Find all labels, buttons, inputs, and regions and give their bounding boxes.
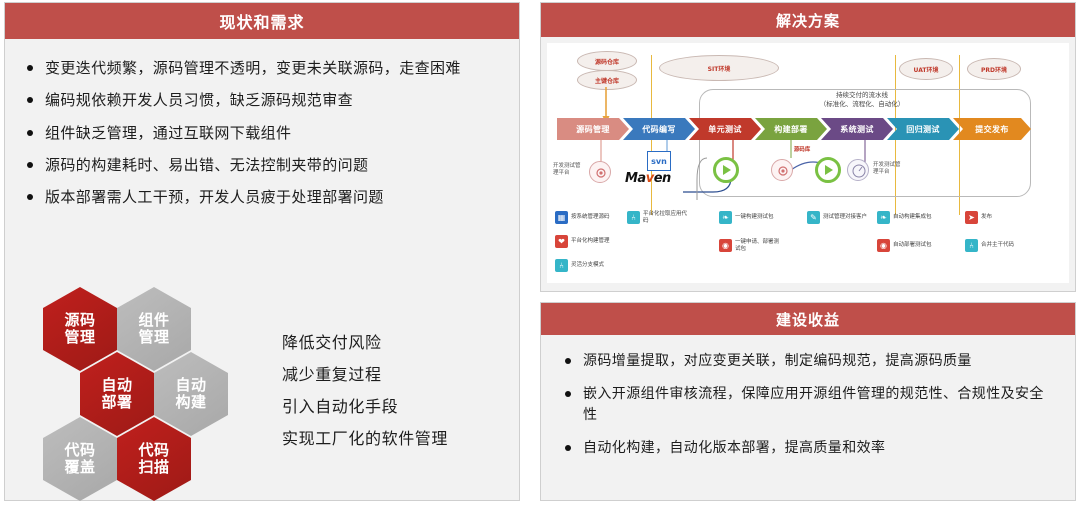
- current-status-bullet-list: 变更迭代频繁，源码管理不透明，变更未关联源码，走查困难 编码规依赖开发人员习惯，…: [5, 39, 519, 209]
- list-item: 嵌入开源组件审核流程，保障应用开源组件管理的规范性、合规性及安全性: [563, 384, 1053, 427]
- legend-label: 平台化拉取应用代码: [643, 211, 687, 225]
- legend-item-auto-deploy-test-pkg: ◉ 自动部署测试包: [877, 239, 932, 252]
- stage-source-management[interactable]: 源码管理: [557, 118, 629, 140]
- legend-item-auto-build-integration-pkg: ❧ 自动构建集成包: [877, 211, 932, 224]
- legend-label: 自动构建集成包: [893, 214, 932, 221]
- legend-item-release: ➤ 发布: [965, 211, 992, 224]
- gear-icon: [771, 159, 793, 181]
- maven-logo: Maven: [625, 171, 671, 186]
- label-source-repo-mid: 源码库: [785, 143, 819, 154]
- hex-label-line1: 代码: [138, 442, 169, 459]
- panel-current-status: 现状和需求 变更迭代频繁，源码管理不透明，变更未关联源码，走查困难 编码规依赖开…: [4, 2, 520, 501]
- hex-label-line1: 自动: [175, 377, 206, 394]
- panel-construction-gain: 建设收益 源码增量提取，对应变更关联，制定编码规范，提高源码质量 嵌入开源组件审…: [540, 302, 1076, 501]
- stage-system-test[interactable]: 系统测试: [821, 118, 893, 140]
- panel-solution-body: 源码仓库 主键仓库 SIT环境 UAT环境 PRD环境 持续交付的流水线 （标准…: [547, 43, 1069, 283]
- benefit-line: 实现工厂化的软件管理: [282, 423, 448, 455]
- target-icon: ◉: [877, 239, 890, 252]
- legend-item-flexible-branch-mode: ⑃ 灵活分支模式: [555, 259, 604, 272]
- list-item: 自动化构建，自动化版本部署，提高质量和效率: [563, 438, 1053, 460]
- panel-construction-gain-title: 建设收益: [541, 303, 1075, 335]
- benefit-text-block: 降低交付风险 减少重复过程 引入自动化手段 实现工厂化的软件管理: [282, 327, 448, 455]
- benefit-line: 减少重复过程: [282, 359, 448, 391]
- stage-unit-test[interactable]: 单元测试: [689, 118, 761, 140]
- benefit-line: 引入自动化手段: [282, 391, 448, 423]
- panel-current-status-body: 变更迭代频繁，源码管理不透明，变更未关联源码，走查困难 编码规依赖开发人员习惯，…: [5, 39, 519, 209]
- hex-label-line1: 组件: [138, 312, 169, 329]
- hex-label-line2: 构建: [175, 394, 206, 411]
- legend-item-one-click-build-test-pkg: ❧ 一键构建测试包: [719, 211, 774, 224]
- legend-label: 灵活分支模式: [571, 262, 604, 269]
- list-item: 源码增量提取，对应变更关联，制定编码规范，提高源码质量: [563, 351, 1053, 373]
- legend-label: 一键申请、部署测试包: [735, 239, 779, 253]
- branch-icon: ⑃: [627, 211, 640, 224]
- edit-icon: ✎: [807, 211, 820, 224]
- svn-logo: svn: [647, 151, 671, 171]
- legend-label: 平台化构建管理: [571, 238, 610, 245]
- panel-solution-title: 解决方案: [541, 3, 1075, 37]
- capability-hexagon-cluster: 源码 管理 组件 管理 自动 部署 自动 构建 代码 覆盖: [25, 279, 265, 529]
- ellipse-source-repo: 源码仓库: [577, 51, 637, 71]
- panel-current-status-title: 现状和需求: [5, 3, 519, 39]
- legend-label: 测试管理对接客户: [823, 214, 867, 221]
- benefit-line: 降低交付风险: [282, 327, 448, 359]
- pipeline-caption-line1: 持续交付的流水线: [727, 91, 997, 100]
- grid-icon: ▦: [555, 211, 568, 224]
- legend-item-manage-source-by-system: ▦ 按系统管理源码: [555, 211, 610, 224]
- slide-root: 现状和需求 变更迭代频繁，源码管理不透明，变更未关联源码，走查困难 编码规依赖开…: [0, 0, 1080, 503]
- cicd-pipeline-diagram: 源码仓库 主键仓库 SIT环境 UAT环境 PRD环境 持续交付的流水线 （标准…: [547, 43, 1069, 283]
- hex-label-line2: 管理: [138, 329, 169, 346]
- legend-item-merge-trunk-code: ⑃ 合并主干代码: [965, 239, 1014, 252]
- gauge-icon: [847, 159, 869, 181]
- legend-label: 合并主干代码: [981, 242, 1014, 249]
- send-icon: ➤: [965, 211, 978, 224]
- ellipse-sit-env: SIT环境: [659, 55, 779, 81]
- panel-solution: 解决方案 源码仓库 主键仓库 SIT环境 UAT环境 PRD环境: [540, 2, 1076, 292]
- stage-build-deploy[interactable]: 构建部署: [755, 118, 827, 140]
- legend-label: 按系统管理源码: [571, 214, 610, 221]
- legend-label: 自动部署测试包: [893, 242, 932, 249]
- legend-label: 发布: [981, 214, 992, 221]
- panel-construction-gain-body: 源码增量提取，对应变更关联，制定编码规范，提高源码质量 嵌入开源组件审核流程，保…: [541, 335, 1075, 460]
- target-icon: ◉: [719, 239, 732, 252]
- list-item: 变更迭代频繁，源码管理不透明，变更未关联源码，走查困难: [25, 57, 503, 80]
- stage-code-writing[interactable]: 代码编写: [623, 118, 695, 140]
- heart-icon: ❤: [555, 235, 568, 248]
- play-icon: [815, 157, 841, 183]
- package-icon: ❧: [719, 211, 732, 224]
- legend-item-platform-build-management: ❤ 平台化构建管理: [555, 235, 610, 248]
- list-item: 版本部署需人工干预，开发人员疲于处理部署问题: [25, 186, 503, 209]
- legend-item-platform-pull-app-code: ⑃ 平台化拉取应用代码: [627, 211, 687, 225]
- package-icon: ❧: [877, 211, 890, 224]
- gear-icon: [589, 161, 611, 183]
- tool-label-dev-test-platform-right: 开发测试管理平台: [873, 162, 901, 176]
- pipeline-caption: 持续交付的流水线 （标准化、流程化、自动化）: [727, 91, 997, 109]
- legend-label: 一键构建测试包: [735, 214, 774, 221]
- hex-label-line2: 扫描: [138, 459, 169, 476]
- list-item: 源码的构建耗时、易出错、无法控制夹带的问题: [25, 154, 503, 177]
- hex-label-line1: 源码: [64, 312, 95, 329]
- hex-label-line2: 覆盖: [64, 459, 95, 476]
- stage-release[interactable]: 提交发布: [953, 118, 1031, 140]
- legend-item-test-management-client: ✎ 测试管理对接客户: [807, 211, 867, 224]
- play-icon: [713, 157, 739, 183]
- hex-label-line2: 管理: [64, 329, 95, 346]
- list-item: 编码规依赖开发人员习惯，缺乏源码规范审查: [25, 89, 503, 112]
- gain-bullet-list: 源码增量提取，对应变更关联，制定编码规范，提高源码质量 嵌入开源组件审核流程，保…: [541, 335, 1075, 460]
- legend-item-one-click-apply-deploy: ◉ 一键申请、部署测试包: [719, 239, 779, 253]
- ellipse-uat-env: UAT环境: [899, 58, 953, 80]
- tool-label-dev-test-platform-left: 开发测试管理平台: [553, 163, 581, 177]
- hex-label-line2: 部署: [101, 394, 132, 411]
- branch-icon: ⑃: [965, 239, 978, 252]
- branch-icon: ⑃: [555, 259, 568, 272]
- pipeline-caption-line2: （标准化、流程化、自动化）: [727, 100, 997, 109]
- ellipse-prd-env: PRD环境: [967, 58, 1021, 80]
- hex-label-line1: 代码: [64, 442, 95, 459]
- list-item: 组件缺乏管理，通过互联网下载组件: [25, 122, 503, 145]
- hex-label-line1: 自动: [101, 377, 132, 394]
- stage-regression-test[interactable]: 回归测试: [887, 118, 959, 140]
